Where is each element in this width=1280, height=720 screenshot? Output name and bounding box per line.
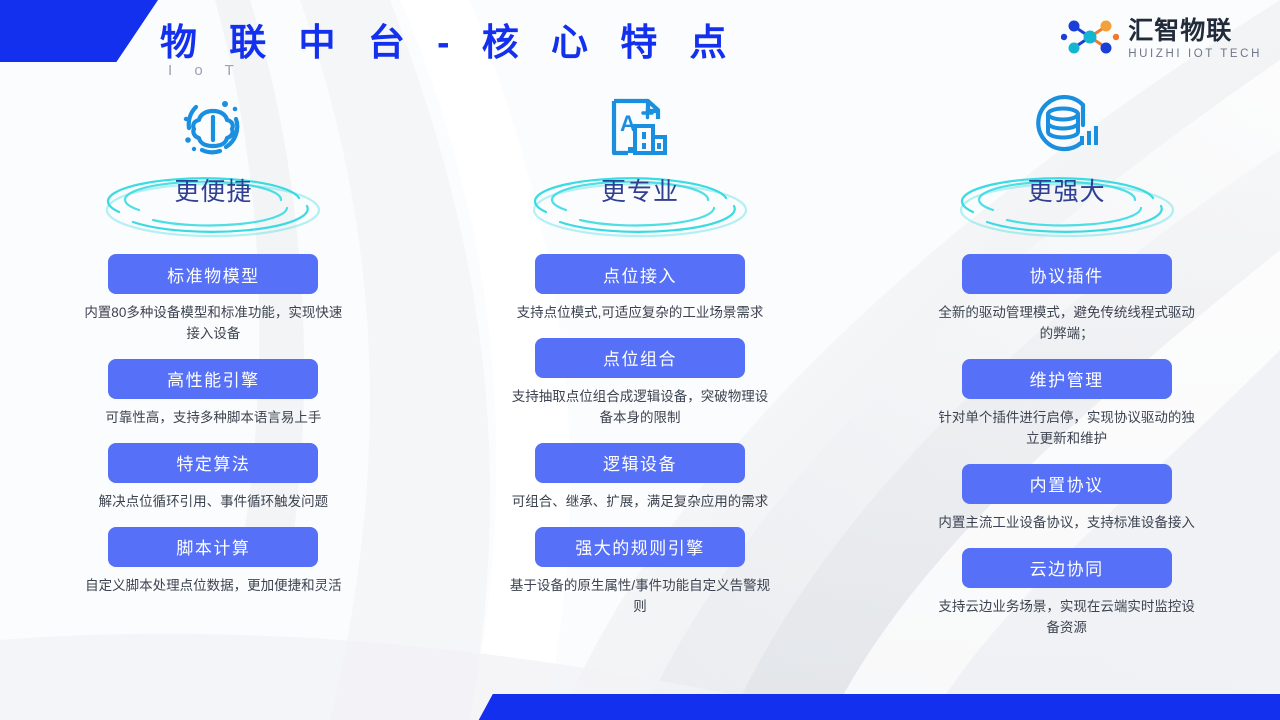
feature-desc: 全新的驱动管理模式，避免传统线程式驱动的弊端； xyxy=(936,303,1198,345)
header-accent-shape xyxy=(0,0,158,62)
footer-accent-bar xyxy=(0,694,1280,720)
logo-name-en: HUIZHI IOT TECH xyxy=(1128,49,1262,61)
feature-pill[interactable]: 标准物模型 xyxy=(108,254,318,294)
feature-item: 云边协同 支持云边业务场景，实现在云端实时监控设备资源 xyxy=(853,548,1280,639)
feature-pill[interactable]: 高性能引擎 xyxy=(108,359,318,399)
feature-pill[interactable]: 脚本计算 xyxy=(108,527,318,567)
feature-column-2: A xyxy=(427,92,854,692)
feature-item: 点位组合 支持抽取点位组合成逻辑设备，突破物理设备本身的限制 xyxy=(427,338,854,429)
feature-pill[interactable]: 点位接入 xyxy=(535,254,745,294)
feature-desc: 可靠性高，支持多种脚本语言易上手 xyxy=(82,408,344,429)
feature-desc: 基于设备的原生属性/事件功能自定义告警规则 xyxy=(509,576,771,618)
column-heading-3: 更强大 xyxy=(1028,170,1106,208)
feature-pill[interactable]: 内置协议 xyxy=(962,464,1172,504)
feature-item: 强大的规则引擎 基于设备的原生属性/事件功能自定义告警规则 xyxy=(427,527,854,618)
feature-desc: 支持抽取点位组合成逻辑设备，突破物理设备本身的限制 xyxy=(509,387,771,429)
feature-desc: 可组合、继承、扩展，满足复杂应用的需求 xyxy=(509,492,771,513)
feature-item: 逻辑设备 可组合、继承、扩展，满足复杂应用的需求 xyxy=(427,443,854,513)
feature-column-1: 更便捷 标准物模型 内置80多种设备模型和标准功能，实现快速接入设备 高性能引擎… xyxy=(0,92,427,692)
feature-desc: 自定义脚本处理点位数据，更加便捷和灵活 xyxy=(82,576,344,597)
feature-pill[interactable]: 逻辑设备 xyxy=(535,443,745,483)
feature-desc: 内置主流工业设备协议，支持标准设备接入 xyxy=(936,513,1198,534)
feature-item: 高性能引擎 可靠性高，支持多种脚本语言易上手 xyxy=(0,359,427,429)
feature-item: 脚本计算 自定义脚本处理点位数据，更加便捷和灵活 xyxy=(0,527,427,597)
column-heading-wrap-2: 更专业 xyxy=(490,170,790,242)
feature-item: 标准物模型 内置80多种设备模型和标准功能，实现快速接入设备 xyxy=(0,254,427,345)
page-title: 物 联 中 台 - 核 心 特 点 xyxy=(160,12,738,66)
feature-desc: 支持云边业务场景，实现在云端实时监控设备资源 xyxy=(936,597,1198,639)
document-aplus-building-icon: A xyxy=(604,92,676,164)
feature-desc: 支持点位模式,可适应复杂的工业场景需求 xyxy=(509,303,771,324)
column-heading-1: 更便捷 xyxy=(174,170,252,208)
column-heading-wrap-3: 更强大 xyxy=(917,170,1217,242)
brand-logo: 汇智物联 HUIZHI IOT TECH xyxy=(1061,14,1262,65)
feature-columns: 更便捷 标准物模型 内置80多种设备模型和标准功能，实现快速接入设备 高性能引擎… xyxy=(0,92,1280,692)
page-subtitle: I o T xyxy=(168,62,243,79)
feature-column-3: 更强大 协议插件 全新的驱动管理模式，避免传统线程式驱动的弊端； 维护管理 针对… xyxy=(853,92,1280,692)
feature-item: 点位接入 支持点位模式,可适应复杂的工业场景需求 xyxy=(427,254,854,324)
feature-pill[interactable]: 协议插件 xyxy=(962,254,1172,294)
feature-desc: 解决点位循环引用、事件循环触发问题 xyxy=(82,492,344,513)
feature-pill[interactable]: 维护管理 xyxy=(962,359,1172,399)
brain-gear-icon xyxy=(176,92,250,164)
feature-desc: 针对单个插件进行启停，实现协议驱动的独立更新和维护 xyxy=(936,408,1198,450)
column-heading-wrap-1: 更便捷 xyxy=(63,170,363,242)
feature-items-2: 点位接入 支持点位模式,可适应复杂的工业场景需求 点位组合 支持抽取点位组合成逻… xyxy=(427,254,854,618)
database-chart-icon xyxy=(1031,92,1103,164)
logo-name-cn: 汇智物联 xyxy=(1128,19,1262,44)
feature-desc: 内置80多种设备模型和标准功能，实现快速接入设备 xyxy=(82,303,344,345)
column-heading-2: 更专业 xyxy=(601,170,679,208)
slide-root: 物 联 中 台 - 核 心 特 点 I o T 汇智物联 HUIZHI IOT … xyxy=(0,0,1280,720)
feature-item: 内置协议 内置主流工业设备协议，支持标准设备接入 xyxy=(853,464,1280,534)
feature-items-1: 标准物模型 内置80多种设备模型和标准功能，实现快速接入设备 高性能引擎 可靠性… xyxy=(0,254,427,597)
feature-item: 协议插件 全新的驱动管理模式，避免传统线程式驱动的弊端； xyxy=(853,254,1280,345)
feature-pill[interactable]: 强大的规则引擎 xyxy=(535,527,745,567)
feature-pill[interactable]: 云边协同 xyxy=(962,548,1172,588)
feature-pill[interactable]: 特定算法 xyxy=(108,443,318,483)
feature-item: 维护管理 针对单个插件进行启停，实现协议驱动的独立更新和维护 xyxy=(853,359,1280,450)
feature-item: 特定算法 解决点位循环引用、事件循环触发问题 xyxy=(0,443,427,513)
logo-molecule-icon xyxy=(1061,14,1119,65)
feature-items-3: 协议插件 全新的驱动管理模式，避免传统线程式驱动的弊端； 维护管理 针对单个插件… xyxy=(853,254,1280,638)
feature-pill[interactable]: 点位组合 xyxy=(535,338,745,378)
